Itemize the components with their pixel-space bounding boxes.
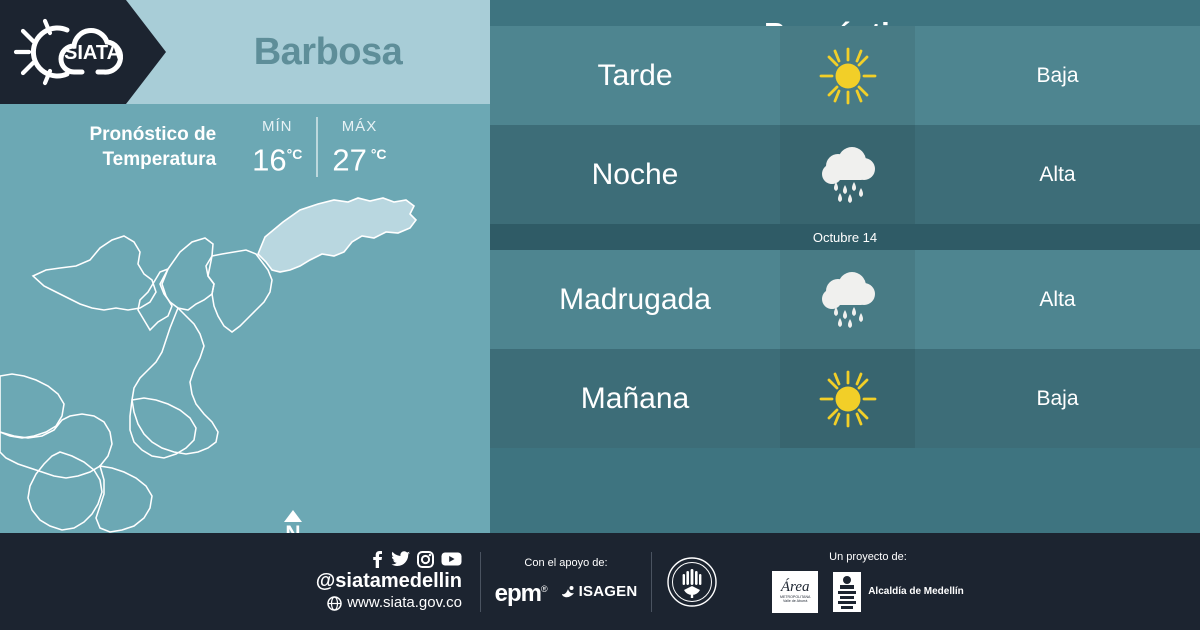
rain-cloud-icon [816,144,880,206]
temperature-min-unit: °C [287,146,303,162]
period-label: Mañana [490,349,780,448]
area-metropolitana-logo[interactable]: Área METROPOLITANA Valle de Aburrá [772,571,818,613]
map-region-outlines [0,236,272,532]
weather-icon-cell [780,26,915,125]
website-row[interactable]: www.siata.gov.co [327,593,462,613]
support-title: Con el apoyo de: [524,557,607,569]
sun-cloud-icon: SIATA [12,14,130,90]
project-block: Un proyecto de: Área METROPOLITANA Valle… [718,551,1018,613]
probability-label: Baja [915,349,1200,448]
temperature-values: MÍN 16°C MÁX 27°C [238,117,400,177]
aburra-valley-map: N [0,180,490,533]
rain-cloud-icon [816,269,880,331]
weather-icon-cell [780,349,915,448]
support-block: Con el apoyo de: epm® ISAGEN [481,557,651,606]
alcaldia-logo[interactable]: Alcaldía de Medellín [832,571,964,613]
period-label: Tarde [490,26,780,125]
precipitation-panel: Pronóstico de Precipitación Octubre 13 T… [490,0,1200,533]
probability-label: Alta [915,125,1200,224]
footer: @siatamedellin www.siata.gov.co Con el a… [0,533,1200,630]
city-name: Barbosa [166,0,490,104]
siata-logo-badge: SIATA [0,0,166,104]
temperature-min-value: 16 [252,142,286,177]
amva-line2: Valle de Aburrá [783,599,807,603]
probability-label: Alta [915,250,1200,349]
date-band-day2: Octubre 14 [490,224,1200,250]
support-logos: epm® ISAGEN [495,577,638,606]
temperature-forecast: Pronóstico de Temperatura MÍN 16°C MÁX 2… [0,112,490,182]
alcaldia-label: Alcaldía de Medellín [868,586,964,597]
facebook-icon[interactable] [370,550,384,568]
isagen-logo[interactable]: ISAGEN [561,583,638,600]
raindrops [834,182,863,203]
university-seal-block [652,556,718,608]
social-handle[interactable]: @siatamedellin [316,570,462,593]
isagen-mark-icon [561,585,576,598]
isagen-logo-text: ISAGEN [579,583,638,600]
period-label: Noche [490,125,780,224]
temperature-max-unit: °C [371,146,387,162]
raindrops [834,307,863,328]
map-region-barbosa[interactable] [258,198,416,272]
temperature-title: Pronóstico de Temperatura [89,122,216,172]
sun-icon [817,368,879,430]
social-block: @siatamedellin www.siata.gov.co [0,550,480,613]
social-icons [370,550,462,568]
epm-logo[interactable]: epm® [495,577,547,606]
temperature-title-line1: Pronóstico de [89,122,216,147]
epm-logo-text: epm [495,580,541,607]
amva-signature: Área [781,580,810,595]
weather-icon-cell [780,250,915,349]
left-header-band: SIATA Barbosa [0,0,490,104]
youtube-icon[interactable] [441,551,462,567]
temperature-max: MÁX 27°C [318,117,400,177]
weather-icon-cell [780,125,915,224]
north-arrow-icon [284,510,302,522]
instagram-icon[interactable] [417,551,434,568]
siata-logo-text: SIATA [64,42,121,64]
project-logos: Área METROPOLITANA Valle de Aburrá [772,571,964,613]
universidad-seal-icon[interactable] [666,556,718,608]
temperature-min-label: MÍN [252,117,302,137]
temperature-max-label: MÁX [332,117,386,137]
temperature-max-value: 27 [332,142,366,177]
forecast-row[interactable]: Noche [490,125,1200,224]
twitter-icon[interactable] [391,550,410,568]
weather-forecast-infographic: SIATA Barbosa Pronóstico de Temperatura … [0,0,1200,630]
left-panel: SIATA Barbosa Pronóstico de Temperatura … [0,0,490,533]
temperature-max-value-group: 27°C [332,137,386,177]
map-svg [0,180,490,533]
forecast-row[interactable]: Tarde Baja [490,26,1200,125]
temperature-min: MÍN 16°C [238,117,318,177]
project-title: Un proyecto de: [829,551,907,563]
sun-icon [817,45,879,107]
forecast-row[interactable]: Mañana Baja [490,349,1200,448]
temperature-min-value-group: 16°C [252,137,302,177]
temperature-title-line2: Temperatura [89,147,216,172]
probability-label: Baja [915,26,1200,125]
website-url: www.siata.gov.co [347,593,462,613]
forecast-row[interactable]: Madrugada [490,250,1200,349]
alcaldia-crest-icon [832,571,862,613]
period-label: Madrugada [490,250,780,349]
globe-icon [327,596,342,611]
